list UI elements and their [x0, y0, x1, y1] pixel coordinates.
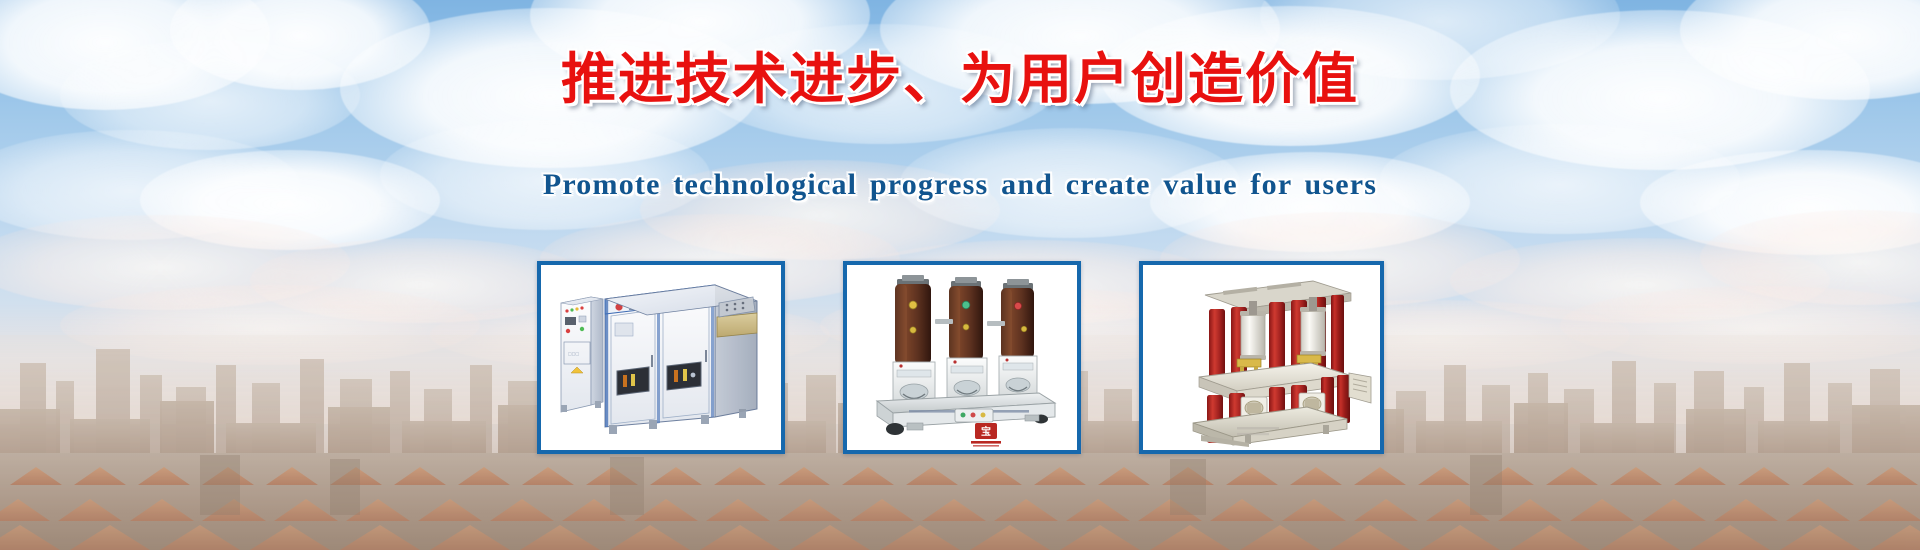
- vacuum-circuit-breaker-icon: 宝: [849, 267, 1075, 448]
- switchgear-cabinet-icon: □□□: [543, 267, 779, 448]
- product-frame-2[interactable]: Three-pole outdoor vacuum circuit breake…: [843, 261, 1081, 454]
- product-image-row: Low-voltage metal enclosed switchgear ca…: [0, 261, 1920, 454]
- product-frame-3[interactable]: High voltage vacuum contactor with red e…: [1139, 261, 1384, 454]
- svg-text:□□□: □□□: [568, 351, 580, 356]
- svg-text:宝: 宝: [981, 425, 991, 438]
- product-frame-1[interactable]: Low-voltage metal enclosed switchgear ca…: [537, 261, 785, 454]
- vacuum-contactor-icon: [1145, 267, 1378, 448]
- promotional-banner: 推进技术进步、为用户创造价值 Promote technological pro…: [0, 0, 1920, 550]
